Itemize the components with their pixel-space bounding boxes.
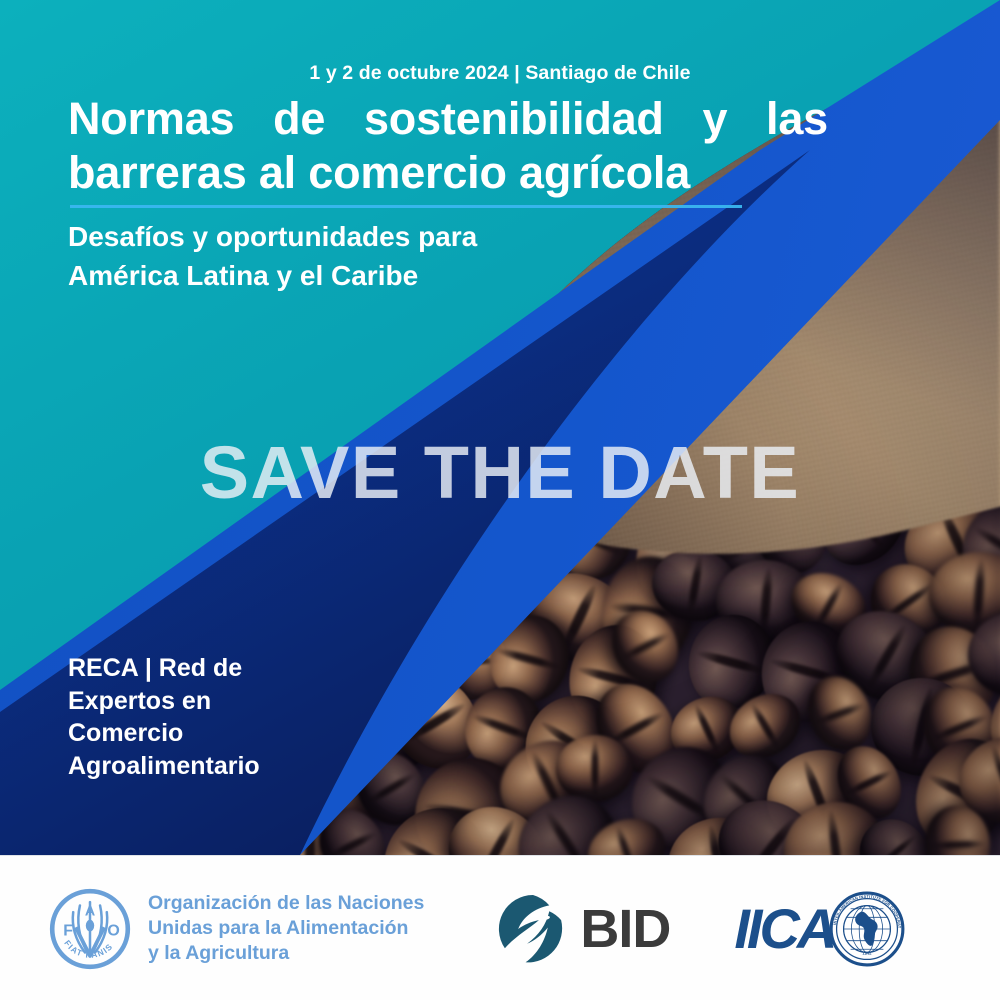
save-the-date-text: SAVE THE DATE	[0, 430, 1000, 515]
iica-wordmark: IICA	[734, 901, 834, 957]
page-title-line-2: barreras al comercio agrícola	[68, 146, 828, 200]
svg-text:1942: 1942	[862, 950, 872, 956]
network-name-line-2: Expertos en	[68, 687, 211, 715]
iica-logo-group: IICA	[734, 890, 906, 968]
network-name: RECA | Red de Expertos en Comercio Agroa…	[68, 652, 368, 782]
iica-seal-year: 1942	[862, 950, 872, 956]
partner-logos-footer: A F O FIAT PANIS Organización de las Nac…	[0, 855, 1000, 1000]
fao-organization-name: Organización de las NacionesUnidas para …	[148, 891, 424, 966]
network-name-line-4: Agroalimentario	[68, 752, 260, 780]
fao-name-line-2: Unidas para la Alimentación	[148, 917, 408, 939]
bid-logo-icon	[496, 892, 570, 966]
network-name-line-1: RECA | Red de	[68, 654, 242, 682]
svg-text:F: F	[63, 922, 73, 939]
page-subtitle-line-2: América Latina y el Caribe	[68, 260, 418, 291]
page-title-line-1: Normas de sostenibilidad y las	[68, 92, 828, 146]
network-name-line-3: Comercio	[68, 719, 183, 747]
page-subtitle: Desafíos y oportunidades para América La…	[68, 218, 768, 295]
fao-name-line-3: y la Agricultura	[148, 942, 289, 964]
fao-logo-icon: A F O FIAT PANIS	[48, 887, 132, 971]
bid-wordmark: BID	[580, 902, 670, 956]
fao-name-line-1: Organización de las Naciones	[148, 892, 424, 914]
bid-logo-group: BID	[496, 892, 670, 966]
fao-logo-group: A F O FIAT PANIS Organización de las Nac…	[48, 887, 424, 971]
event-date-location: 1 y 2 de octubre 2024 | Santiago de Chil…	[0, 62, 1000, 85]
poster-canvas: 1 y 2 de octubre 2024 | Santiago de Chil…	[0, 0, 1000, 1000]
iica-seal-icon: INTER-AMERICAN INSTITUTE FOR COOPERATION…	[828, 890, 906, 968]
svg-text:O: O	[107, 922, 119, 939]
title-divider	[70, 205, 742, 208]
svg-text:A: A	[85, 903, 95, 919]
page-subtitle-line-1: Desafíos y oportunidades para	[68, 221, 477, 252]
page-title: Normas de sostenibilidad y las barreras …	[68, 92, 828, 200]
